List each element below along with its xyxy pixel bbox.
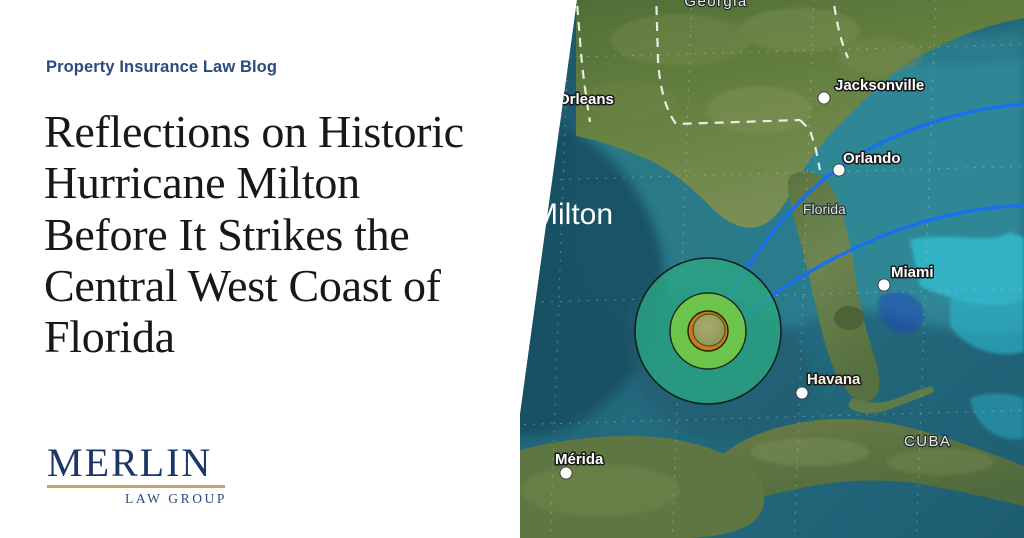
logo-tagline: LAW GROUP (47, 491, 227, 507)
city-dot-jacksonville (818, 92, 830, 104)
map-label-miami: Miami (891, 264, 934, 281)
map-label-gulf-line1: of (520, 288, 534, 304)
map-label-jacksonville: Jacksonville (835, 77, 924, 94)
city-dot-miami (878, 279, 890, 291)
hurricane-map: Georgia Orleans Jacksonville Orlando Flo… (480, 0, 1024, 538)
yucatan-texture (520, 464, 680, 516)
logo-wordmark: MERLIN (47, 443, 227, 483)
merlin-law-group-logo: MERLIN LAW GROUP (47, 443, 227, 507)
logo-divider-rule (47, 485, 225, 488)
text-panel: Property Insurance Law Blog Reflections … (0, 0, 520, 538)
blog-social-card: Property Insurance Law Blog Reflections … (0, 0, 1024, 538)
city-dot-havana (796, 387, 808, 399)
map-label-orleans: Orleans (558, 91, 614, 108)
lake-okeechobee (834, 306, 864, 330)
map-label-merida: Mérida (555, 451, 604, 468)
hurricane-map-graphic: Georgia Orleans Jacksonville Orlando Flo… (480, 0, 1024, 538)
map-label-orlando: Orlando (843, 150, 901, 167)
map-label-havana: Havana (807, 371, 861, 388)
page-title: Reflections on Historic Hurricane Milton… (44, 106, 474, 362)
map-label-florida: Florida (803, 201, 846, 217)
map-label-georgia: Georgia (684, 0, 747, 10)
city-dot-merida (560, 467, 572, 479)
map-label-storm-name: e Milton (508, 198, 613, 231)
blog-kicker: Property Insurance Law Blog (46, 58, 277, 77)
map-label-cuba: CUBA (904, 433, 951, 450)
